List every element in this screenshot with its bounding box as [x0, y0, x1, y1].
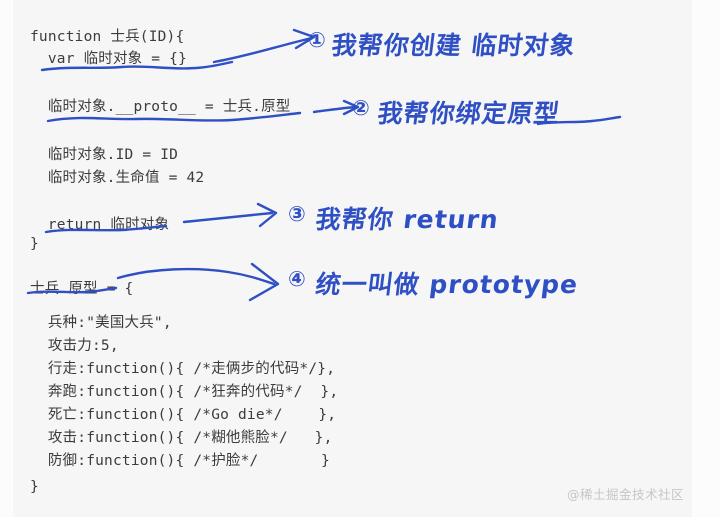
annotation-text-1: 我帮你创建 临时对象: [330, 26, 578, 62]
arrow-to-annotation-4: [118, 269, 274, 284]
watermark: @稀土掘金技术社区: [567, 484, 684, 503]
arrow-to-annotation-3: [184, 213, 272, 222]
code-line: return 临时对象: [30, 213, 169, 234]
code-line: }: [30, 236, 39, 252]
code-line: var 临时对象 = {}: [30, 47, 187, 68]
arrow-to-annotation-1: [214, 38, 312, 62]
annotation-text-3: 我帮你 return: [314, 200, 501, 236]
code-line: 士兵.原型 = {: [30, 277, 133, 298]
code-line: function 士兵(ID){: [30, 25, 184, 46]
annotation-number-1: ①: [308, 28, 326, 52]
code-line: 临时对象.生命值 = 42: [30, 166, 204, 187]
arrow-to-annotation-3-head: [258, 204, 276, 226]
annotation-number-3: ③: [288, 202, 306, 226]
arrow-to-annotation-2: [314, 107, 356, 112]
code-line: 兵种:"美国大兵",: [30, 311, 172, 332]
arrow-to-annotation-4-head: [250, 264, 278, 300]
page-left-margin: [0, 0, 13, 517]
code-line: 防御:function(){ /*护脸*/ }: [30, 449, 330, 470]
screenshot-canvas: function 士兵(ID){ var 临时对象 = {} 临时对象.__pr…: [0, 0, 720, 517]
code-line: 奔跑:function(){ /*狂奔的代码*/ },: [30, 380, 338, 401]
code-line: 死亡:function(){ /*Go die*/ },: [30, 403, 336, 424]
code-line: 行走:function(){ /*走俩步的代码*/},: [30, 357, 335, 378]
page-right-margin: [692, 0, 720, 517]
code-line: 攻击:function(){ /*糊他熊脸*/ },: [30, 426, 333, 447]
code-line: }: [30, 479, 39, 495]
code-line: 攻击力:5,: [30, 334, 119, 355]
code-line: 临时对象.__proto__ = 士兵.原型: [30, 95, 290, 116]
annotation-number-2: ②: [352, 96, 370, 120]
code-line: 临时对象.ID = ID: [30, 143, 178, 164]
annotation-text-2: 我帮你绑定原型: [376, 94, 562, 130]
annotation-number-4: ④: [288, 267, 306, 291]
annotation-text-4: 统一叫做 prototype: [314, 265, 581, 301]
